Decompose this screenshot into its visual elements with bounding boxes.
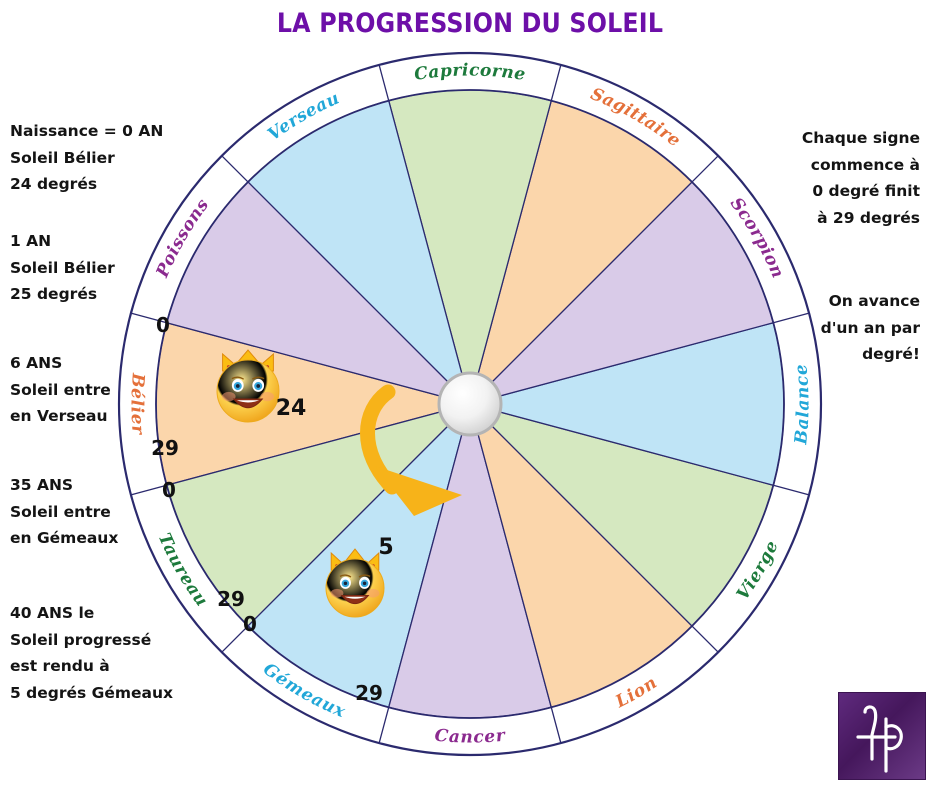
wheel-divider — [131, 485, 167, 495]
note-chaque-signe: Chaque signe commence à 0 degré finit à … — [802, 125, 920, 232]
wheel-outer-rim — [119, 53, 821, 755]
page-title: LA PROGRESSION DU SOLEIL — [56, 8, 883, 39]
wheel-sector-scorpion[interactable] — [470, 182, 773, 404]
wheel-sector-poissons[interactable] — [167, 182, 470, 404]
wheel-sector-vierge[interactable] — [470, 404, 773, 626]
sign-label-verseau: Verseau — [264, 88, 343, 145]
sign-label-taureau: Taureau — [154, 530, 212, 611]
note-6-ans: 6 ANS Soleil entre en Verseau — [10, 350, 111, 430]
sign-label-poissons: Poissons — [152, 195, 213, 281]
brand-logo — [838, 692, 926, 780]
sign-label-sagittaire: Sagittaire — [588, 84, 685, 151]
degree-marker-gemeaux-29: 29 — [355, 681, 383, 705]
wheel-sector-cancer[interactable] — [389, 404, 552, 718]
wheel-divider — [379, 707, 389, 743]
wheel-divider — [379, 65, 389, 101]
degree-marker-taureau-29: 29 — [217, 587, 245, 611]
note-on-avance: On avance d'un an par degré! — [821, 288, 920, 368]
wheel-sector-balance[interactable] — [470, 323, 784, 486]
wheel-divider — [131, 313, 167, 323]
sign-label-cancer: Cancer — [434, 725, 507, 747]
wheel-divider — [222, 156, 248, 182]
wheel-divider — [773, 485, 809, 495]
degree-marker-gemeaux-0: 0 — [243, 612, 257, 636]
degree-marker-belier-0: 0 — [156, 313, 170, 337]
wheel-inner-rim — [156, 90, 784, 718]
progression-arrow-icon — [368, 392, 463, 516]
wheel-divider — [551, 707, 561, 743]
degree-value-soleil-progresse: 5 — [378, 535, 393, 560]
note-naissance: Naissance = 0 AN Soleil Bélier 24 degrés — [10, 118, 163, 198]
note-40-ans: 40 ANS le Soleil progressé est rendu à 5… — [10, 600, 173, 707]
note-35-ans: 35 ANS Soleil entre en Gémeaux — [10, 472, 118, 552]
jupiter-saturn-glyph-icon — [839, 693, 925, 779]
wheel-sector-taureau[interactable] — [167, 404, 470, 626]
wheel-hub[interactable] — [439, 373, 501, 435]
wheel-sector-gemeaux[interactable] — [248, 404, 470, 707]
smiley-sun-soleil-progresse — [326, 549, 384, 617]
wheel-sector-sagittaire[interactable] — [470, 101, 692, 404]
wheel-sector-belier[interactable] — [156, 323, 470, 486]
wheel-sector-verseau[interactable] — [248, 101, 470, 404]
note-1-an: 1 AN Soleil Bélier 25 degrés — [10, 228, 115, 308]
smiley-sun-soleil-natal — [217, 350, 279, 422]
sign-label-belier: Bélier — [127, 372, 148, 436]
sign-label-vierge: Vierge — [732, 537, 782, 604]
wheel-divider — [692, 156, 718, 182]
sign-label-balance: Balance — [791, 363, 813, 446]
degree-value-soleil-natal: 24 — [276, 396, 307, 421]
wheel-sector-lion[interactable] — [470, 404, 692, 707]
wheel-divider — [222, 626, 248, 652]
sign-label-lion: Lion — [611, 672, 660, 712]
degree-marker-belier-29: 29 — [151, 436, 179, 460]
wheel-divider — [773, 313, 809, 323]
wheel-divider — [692, 626, 718, 652]
sign-label-scorpion: Scorpion — [726, 194, 788, 282]
wheel-divider — [551, 65, 561, 101]
degree-marker-taureau-0: 0 — [162, 478, 176, 502]
sign-label-capricorne: Capricorne — [413, 60, 527, 85]
wheel-sector-capricorne[interactable] — [389, 90, 552, 404]
sign-label-gemeaux: Gémeaux — [259, 659, 348, 722]
